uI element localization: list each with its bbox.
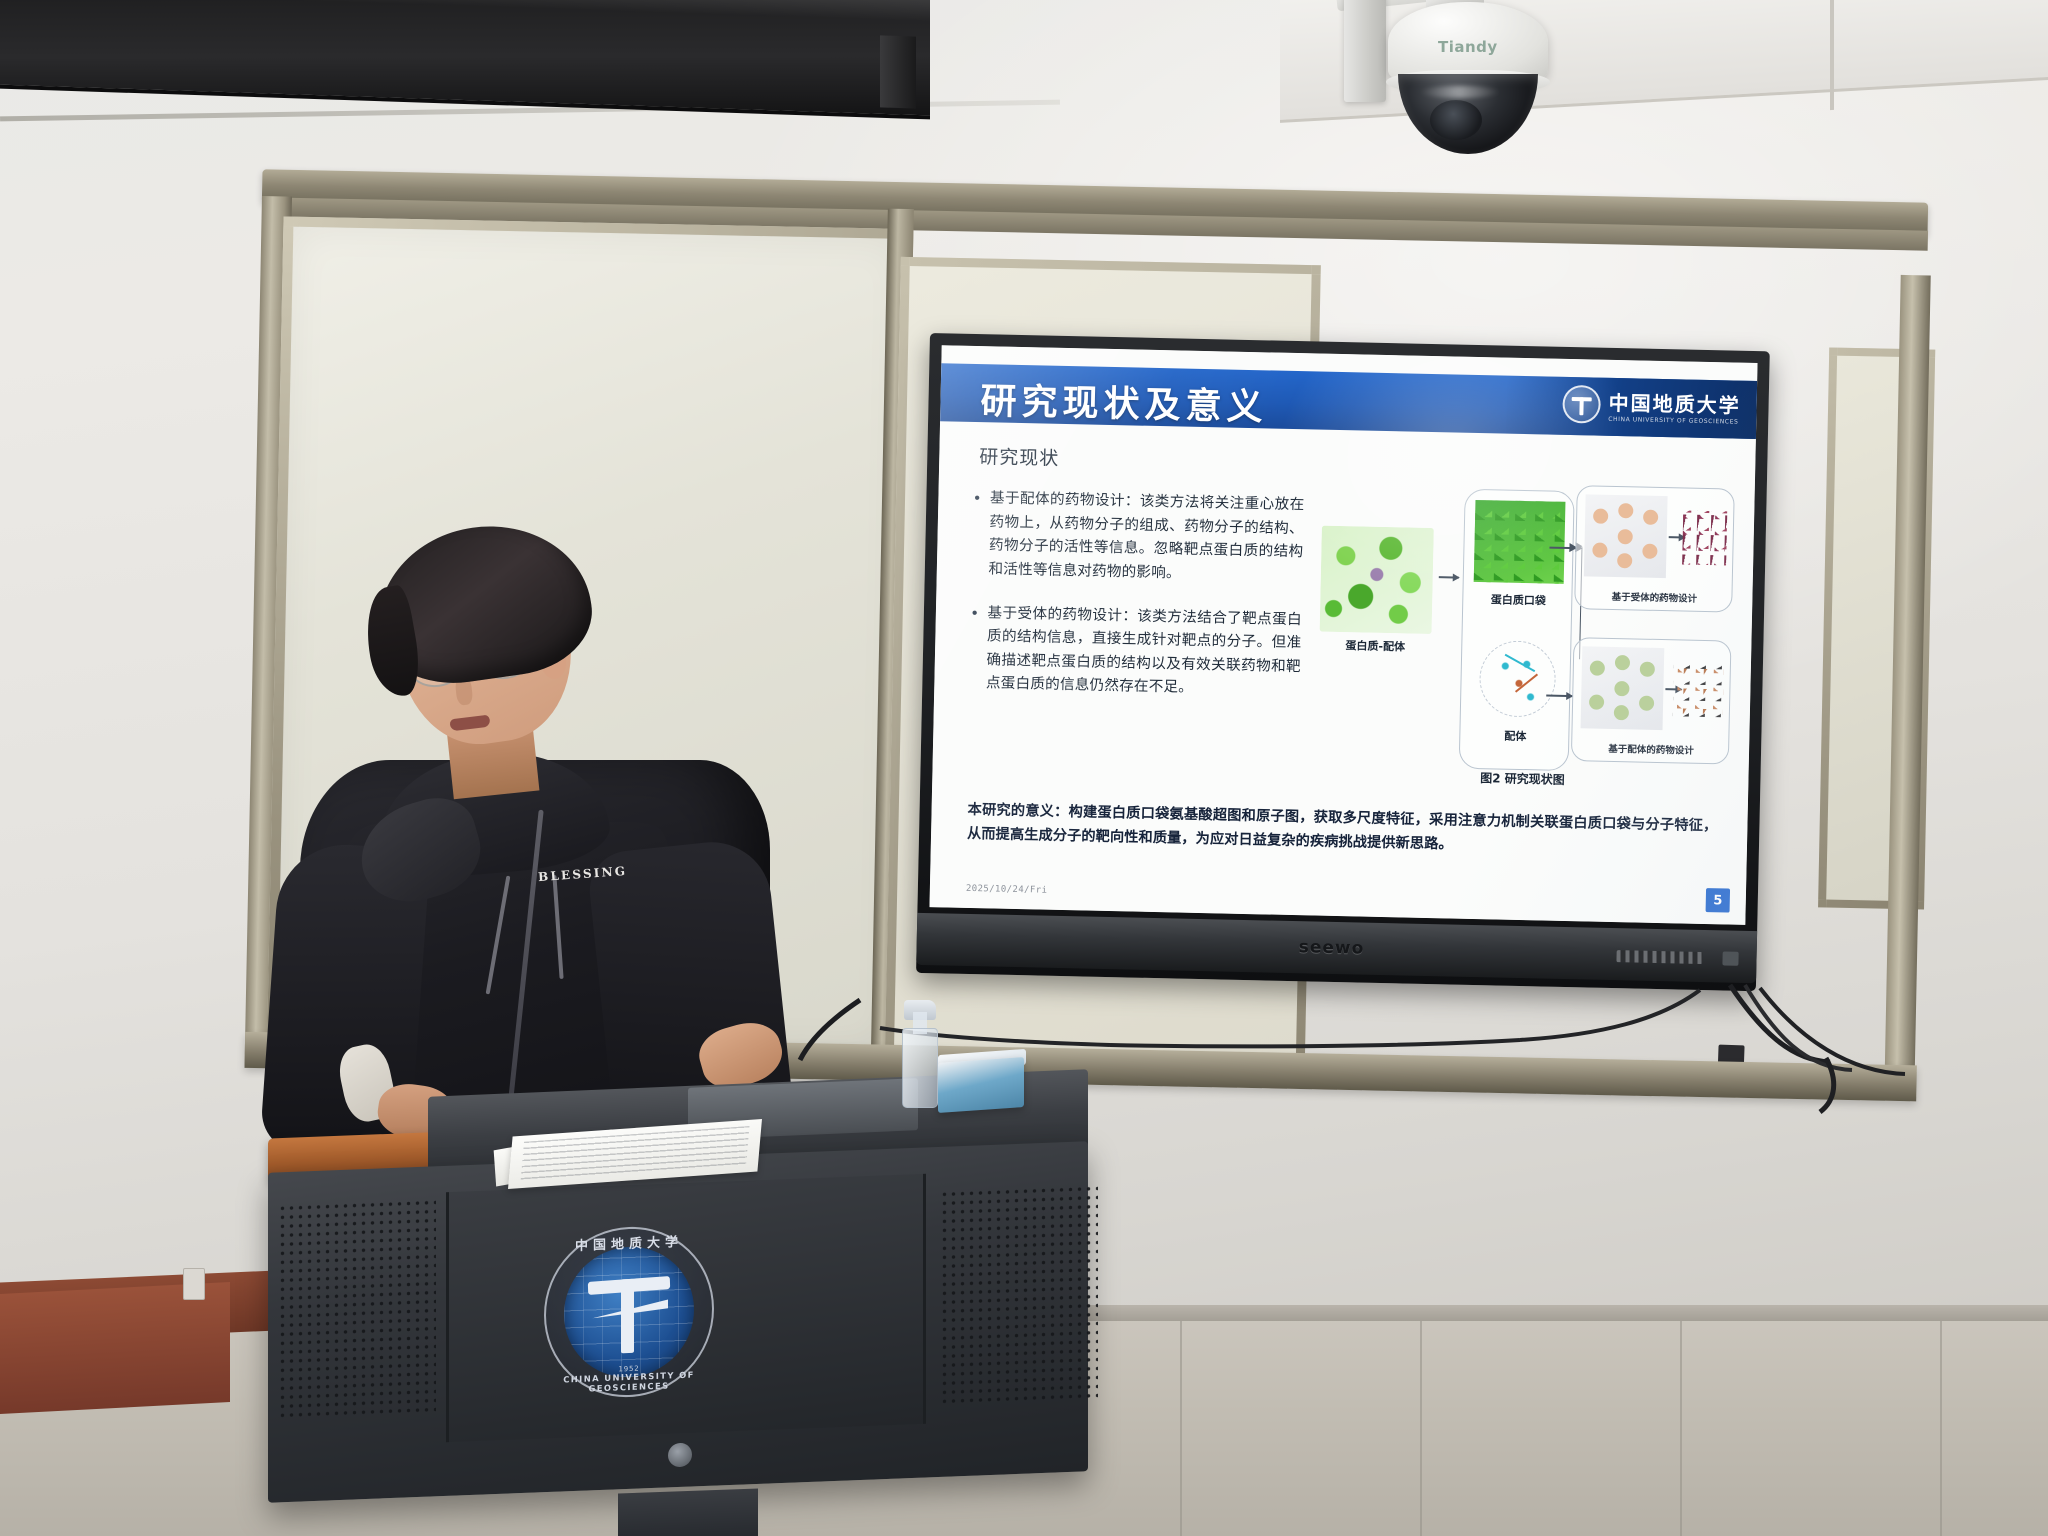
display-screen[interactable]: 研究现状及意义 中国地质大学 CHINA UNIVERSITY OF GEOSC… [929, 345, 1757, 925]
list-item: • 基于受体的药物设计：该类方法结合了靶点蛋白质的结构信息，直接生成针对靶点的分… [970, 601, 1302, 703]
generated-molecule-ligand-image [1673, 662, 1724, 717]
bullet-text: 基于配体的药物设计：该类方法将关注重心放在药物上，从药物分子的组成、药物分子的结… [988, 486, 1304, 587]
speaker-person: BLESSING [300, 545, 820, 1165]
figure-label-ligand-based: 基于配体的药物设计 [1572, 740, 1730, 757]
display-brand-label: seewo [1298, 937, 1364, 958]
slide-subheading: 研究现状 [979, 442, 1060, 471]
slide-summary-paragraph: 本研究的意义：构建蛋白质口袋氨基酸超图和原子图，获取多尺度特征，采用注意力机制关… [967, 798, 1718, 863]
protein-pocket-image [1474, 500, 1566, 584]
bullet-marker-icon: • [973, 486, 981, 581]
floor-tile-seam [1420, 1316, 1422, 1536]
slide-university-logo: 中国地质大学 CHINA UNIVERSITY OF GEOSCIENCES [1562, 385, 1741, 427]
figure-caption: 图2 研究现状图 [1312, 765, 1732, 791]
camera-bracket-arm [1344, 0, 1386, 102]
emblem-hammer-handle-icon [621, 1279, 634, 1353]
camera-highlight [1420, 86, 1500, 98]
geosciences-hammer-icon [1562, 385, 1601, 424]
protein-structure-image [1320, 526, 1434, 634]
slide-logo-cn-text: 中国地质大学 [1608, 387, 1741, 419]
figure-protein-ligand-block: 蛋白质-配体 [1319, 526, 1434, 655]
figure-pocket-ligand-card: 蛋白质口袋 配体 [1459, 489, 1575, 771]
slide-date: 2025/10/24/Fri [966, 884, 1048, 896]
list-item: • 基于配体的药物设计：该类方法将关注重心放在药物上，从药物分子的组成、药物分子… [973, 486, 1305, 588]
slide-logo-en-text: CHINA UNIVERSITY OF GEOSCIENCES [1608, 416, 1740, 426]
display-port-panel[interactable] [1616, 950, 1702, 964]
spray-bottle-body [902, 1028, 938, 1108]
generated-molecule-receptor-image [1676, 510, 1727, 565]
tissue-box[interactable] [938, 1057, 1024, 1113]
ceiling-tile-seam [1830, 0, 1834, 110]
figure-label-ligand: 配体 [1460, 727, 1570, 745]
wood-skirting-lower [0, 1282, 230, 1414]
podium-base-stem [618, 1489, 758, 1536]
slide-title: 研究现状及意义 [980, 372, 1268, 430]
camera-brand-label: Tiandy [1438, 38, 1498, 56]
ptz-camera: Tiandy [1330, 0, 1590, 162]
slide-figure: 蛋白质-配体 蛋白质口袋 配体 [1312, 474, 1739, 803]
figure-label-receptor-based: 基于受体的药物设计 [1575, 588, 1733, 605]
podium-speaker-grille-left [278, 1198, 436, 1419]
podium-speaker-grille-right [940, 1184, 1098, 1405]
ceiling-speaker-edge [880, 35, 916, 108]
figure-label-pocket: 蛋白质口袋 [1463, 591, 1573, 609]
ligand-molecule-image [1479, 640, 1557, 718]
university-emblem: 中国地质大学 1952 CHINA UNIVERSITY OF GEOSCIEN… [544, 1224, 714, 1401]
floor-tile-seam [1940, 1316, 1942, 1536]
floor-tile-seam [1680, 1316, 1682, 1536]
slide-page-number: 5 [1706, 888, 1731, 913]
figure-ligand-based-card: 基于配体的药物设计 [1571, 637, 1732, 764]
display-power-led [1722, 951, 1738, 965]
slide-bullet-list: • 基于配体的药物设计：该类方法将关注重心放在药物上，从药物分子的组成、药物分子… [970, 486, 1305, 722]
paper-printed-lines [521, 1126, 750, 1182]
figure-label-protein-ligand: 蛋白质-配体 [1319, 637, 1431, 655]
bullet-marker-icon: • [970, 601, 978, 696]
floor-tile-seam [1180, 1316, 1182, 1536]
figure-arrow-icon [1439, 576, 1459, 578]
neural-network-icon [1581, 646, 1665, 730]
figure-receptor-based-card: 基于受体的药物设计 [1574, 485, 1735, 612]
spray-bottle[interactable] [902, 1000, 938, 1108]
classroom-scene: Tiandy 研究现状及意义 中国地质大学 CHINA [0, 0, 2048, 1536]
camera-lens [1430, 100, 1482, 140]
bullet-text: 基于受体的药物设计：该类方法结合了靶点蛋白质的结构信息，直接生成针对靶点的分子。… [986, 601, 1302, 702]
wall-socket[interactable] [183, 1268, 205, 1300]
presentation-slide: 研究现状及意义 中国地质大学 CHINA UNIVERSITY OF GEOSC… [929, 345, 1757, 925]
neural-network-icon [1584, 494, 1668, 578]
interactive-display[interactable]: 研究现状及意义 中国地质大学 CHINA UNIVERSITY OF GEOSC… [916, 333, 1770, 991]
